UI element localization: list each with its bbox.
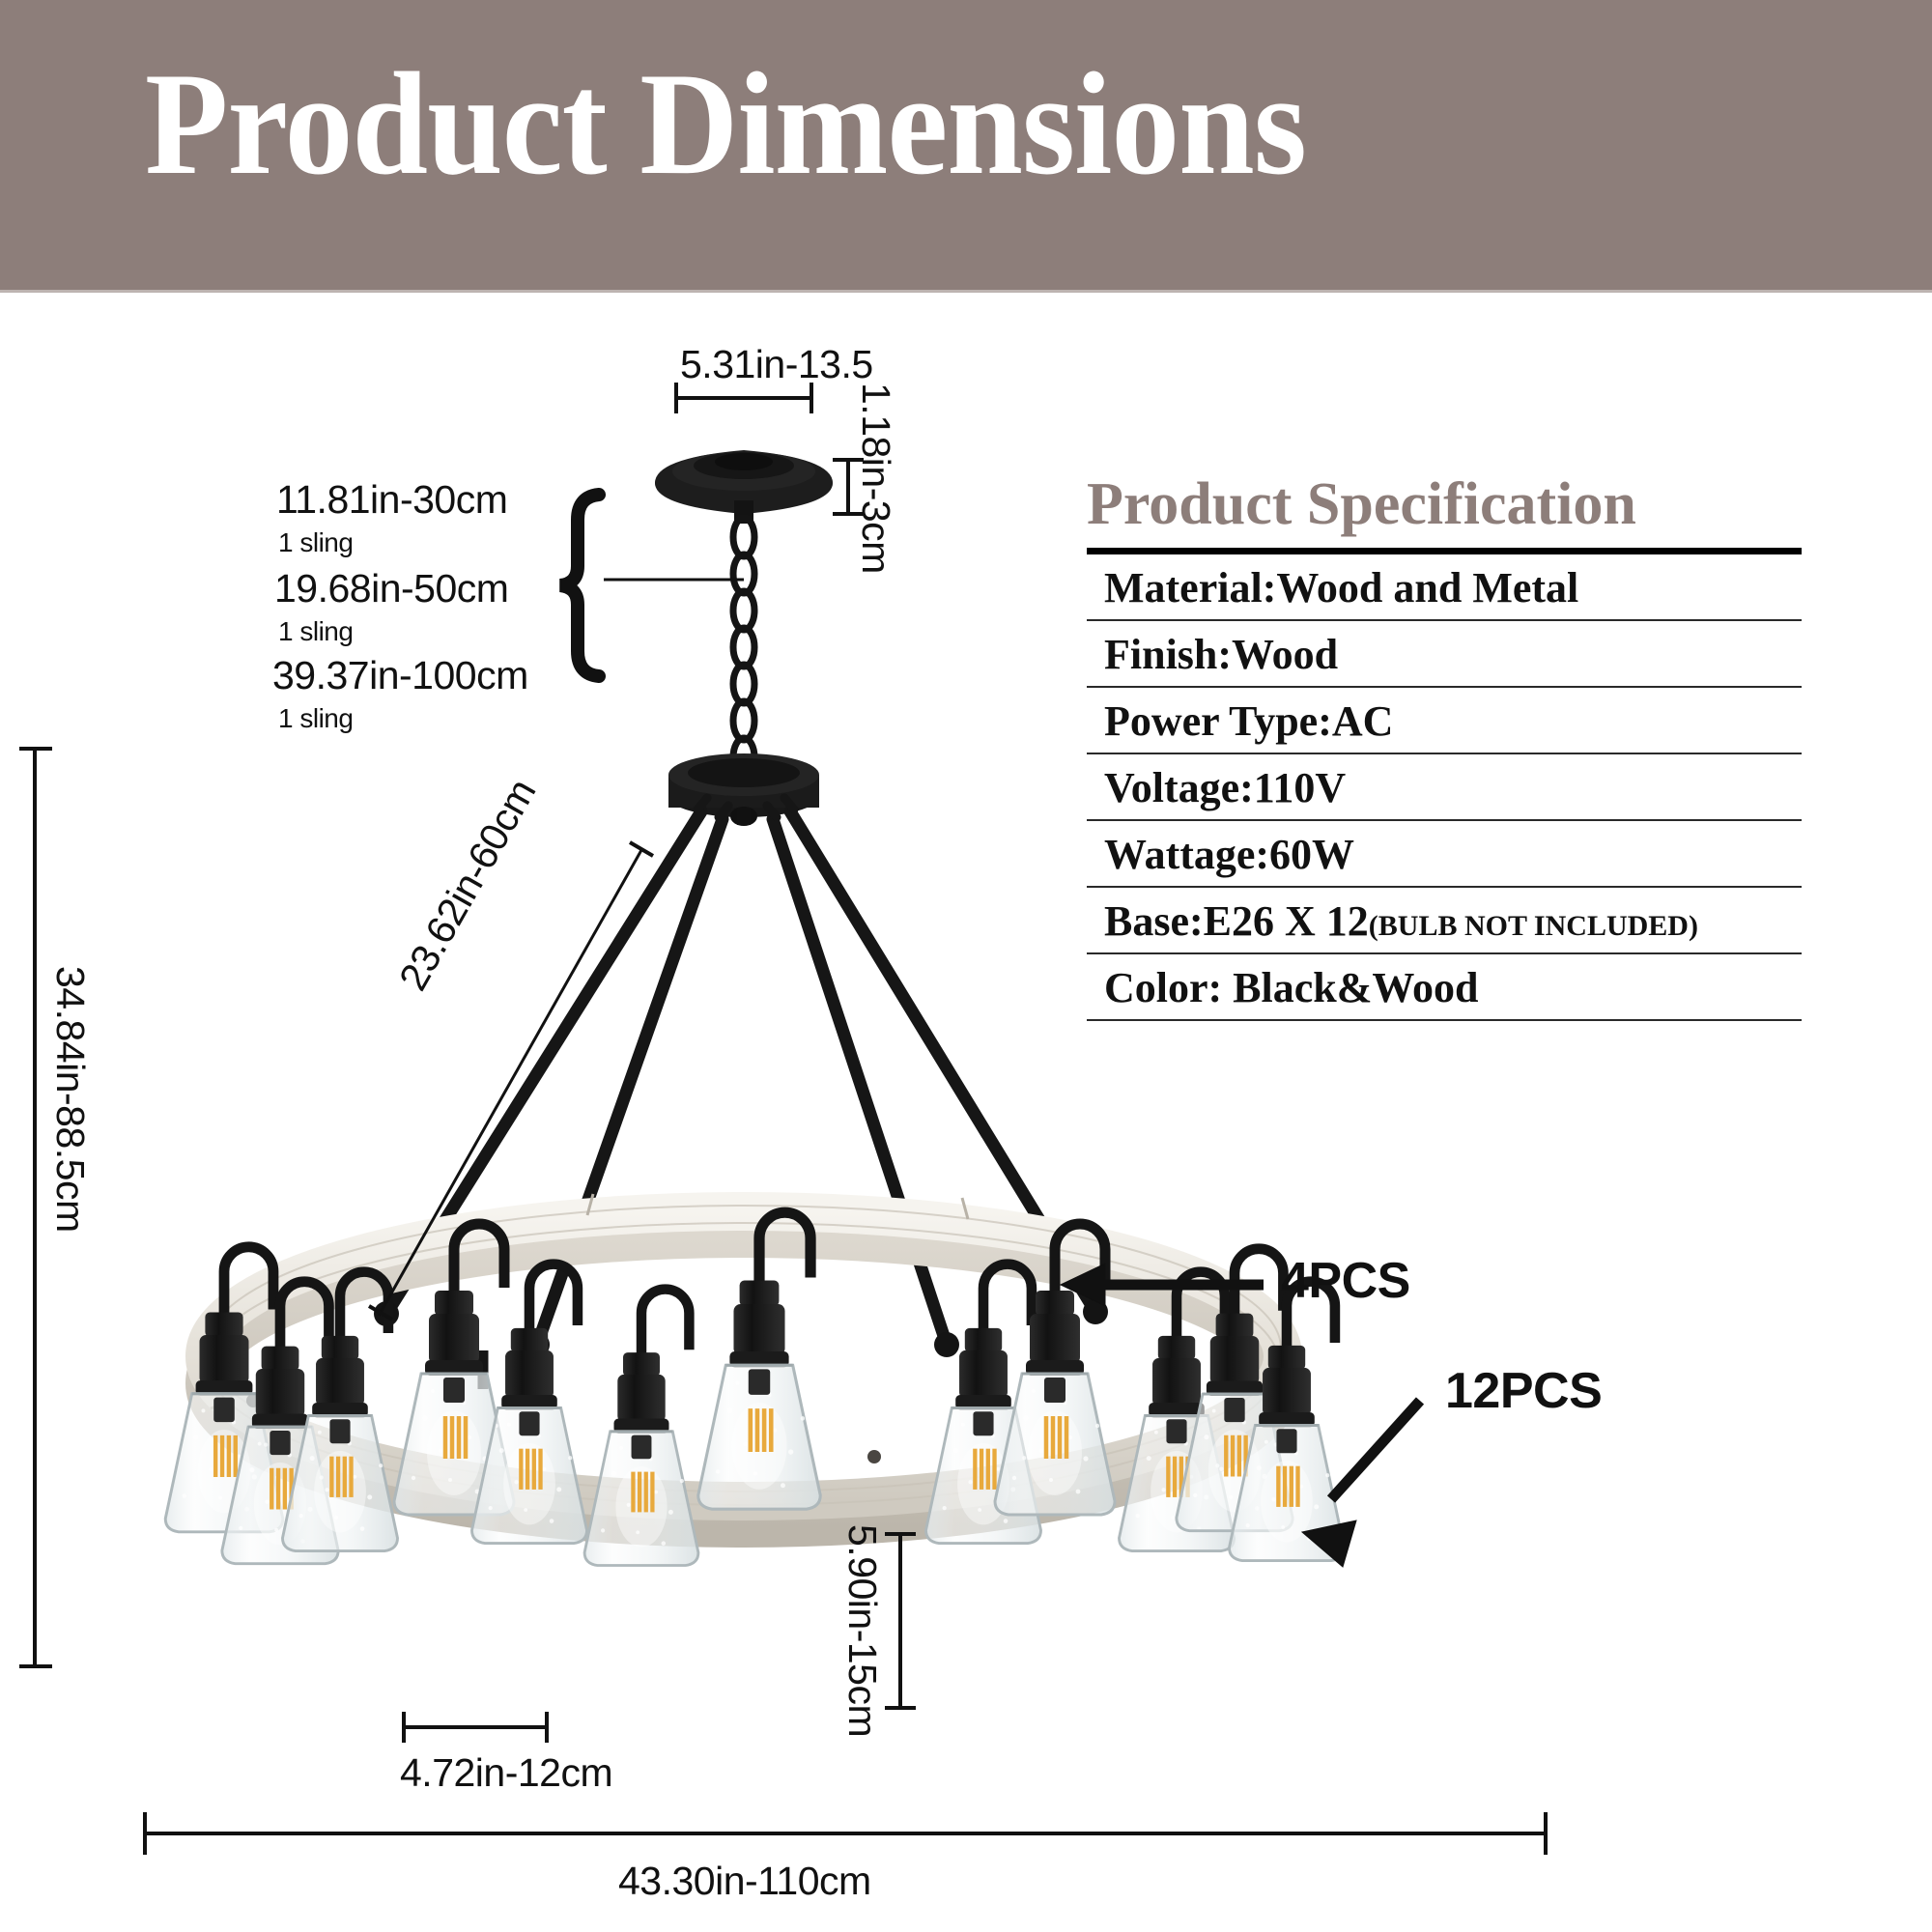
spoke-length-line: [379, 850, 641, 1316]
spec-row-material: Material:Wood and Metal: [1087, 554, 1802, 621]
spoke-end-fittings: [374, 1299, 1108, 1357]
light-fixture: [394, 1224, 514, 1515]
light-fixtures: [165, 1212, 1344, 1565]
light-fixture: [1119, 1272, 1234, 1551]
spec-row-text: Base:E26 X 12: [1104, 897, 1369, 945]
arrow-12pcs-line: [1331, 1401, 1420, 1499]
sling-2-qty: 1 sling: [278, 616, 353, 647]
ceiling-canopy: [655, 450, 833, 524]
shade-height-label: 5.90in-15cm: [839, 1524, 885, 1737]
sling-3-value: 39.37in-100cm: [272, 653, 528, 698]
light-fixture: [925, 1264, 1040, 1544]
sling-1-value: 11.81in-30cm: [276, 477, 507, 523]
center-hub: [668, 753, 819, 826]
light-fixture: [995, 1224, 1115, 1515]
sling-brace: [560, 495, 599, 676]
product-specification-panel: Product Specification Material:Wood and …: [1087, 473, 1802, 1021]
spec-row-text: Color: Black&Wood: [1104, 964, 1478, 1011]
spec-title-divider: [1087, 548, 1802, 554]
spec-row-base: Base:E26 X 12(BULB NOT INCLUDED): [1087, 888, 1802, 954]
hanging-chain: [733, 518, 754, 777]
spec-row-text: Wattage:60W: [1104, 831, 1354, 878]
light-fixture: [698, 1212, 820, 1509]
spec-row-note: (BULB NOT INCLUDED): [1369, 910, 1698, 942]
light-fixture: [584, 1290, 698, 1566]
header-divider: [0, 290, 1932, 293]
spec-row-color: Color: Black&Wood: [1087, 954, 1802, 1021]
light-fixture: [282, 1272, 397, 1551]
spec-panel-title: Product Specification: [1087, 473, 1802, 536]
spoke-length-label: 23.62in-60cm: [390, 772, 545, 998]
inner-stems: [483, 1294, 759, 1389]
spec-row-text: Finish:Wood: [1104, 631, 1338, 678]
spec-row-text: Material:Wood and Metal: [1104, 564, 1578, 611]
spec-row-power-type: Power Type:AC: [1087, 688, 1802, 754]
overall-width-label: 43.30in-110cm: [618, 1859, 871, 1904]
spec-row-voltage: Voltage:110V: [1087, 754, 1802, 821]
spec-row-wattage: Wattage:60W: [1087, 821, 1802, 888]
light-fixture: [1229, 1282, 1344, 1561]
infographic-canvas: Product Dimensions: [0, 0, 1932, 1932]
light-fixture: [165, 1247, 283, 1532]
sling-2-value: 19.68in-50cm: [274, 566, 508, 611]
canopy-height-label: 1.18in-3cm: [853, 383, 898, 574]
canopy-width-label: 5.31in-13.5: [680, 342, 873, 387]
sling-3-qty: 1 sling: [278, 703, 353, 734]
callout-12pcs: 12PCS: [1445, 1362, 1602, 1420]
spec-row-text: Voltage:110V: [1104, 764, 1346, 811]
light-fixture: [222, 1282, 338, 1564]
callout-4pcs: 4PCS: [1281, 1252, 1410, 1310]
light-fixture: [471, 1264, 586, 1544]
shade-width-label: 4.72in-12cm: [400, 1750, 612, 1796]
overall-height-label: 34.84in-88.5cm: [47, 966, 93, 1233]
wood-ring: [205, 1194, 1283, 1528]
arrow-4pcs-head: [1061, 1264, 1105, 1306]
arrow-12pcs-head: [1302, 1520, 1356, 1567]
light-fixture: [1177, 1249, 1293, 1531]
page-title: Product Dimensions: [145, 50, 1306, 197]
spec-row-finish: Finish:Wood: [1087, 621, 1802, 688]
spec-row-text: Power Type:AC: [1104, 697, 1393, 745]
sling-1-qty: 1 sling: [278, 527, 353, 558]
